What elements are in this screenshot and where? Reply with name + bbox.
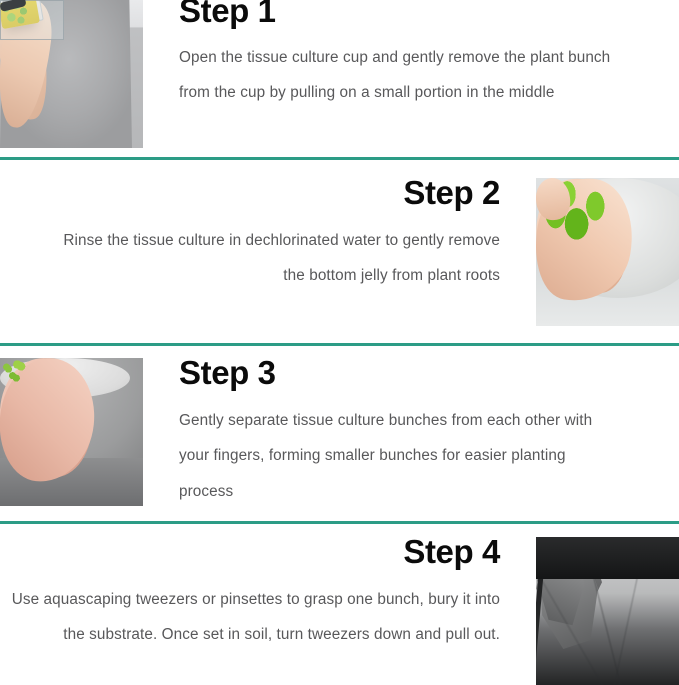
step-4-body: Use aquascaping tweezers or pinsettes to… (0, 582, 500, 653)
step-3-photo (0, 358, 143, 506)
step-2-text-column: Step 2 Rinse the tissue culture in dechl… (0, 178, 536, 294)
divider-2 (0, 343, 679, 346)
step-4-title: Step 4 (0, 535, 500, 569)
step-3-text-column: Step 3 Gently separate tissue culture bu… (143, 358, 679, 509)
divider-1 (0, 157, 679, 160)
step-1-title: Step 1 (179, 0, 621, 28)
step-4-photo (536, 537, 679, 685)
photo-substrate-shape (536, 537, 679, 579)
step-block-3: Step 3 Gently separate tissue culture bu… (0, 358, 679, 503)
step-2-title: Step 2 (40, 176, 500, 210)
photo-green-bunch-right-shape (0, 358, 34, 386)
step-1-text-column: Step 1 Open the tissue culture cup and g… (143, 0, 679, 111)
step-1-photo (0, 0, 143, 148)
step-block-2: Step 2 Rinse the tissue culture in dechl… (0, 178, 679, 323)
step-3-row: Step 3 Gently separate tissue culture bu… (0, 358, 679, 509)
steps-infographic: Step 1 Open the tissue culture cup and g… (0, 0, 679, 683)
step-block-1: Step 1 Open the tissue culture cup and g… (0, 0, 679, 153)
step-1-body: Open the tissue culture cup and gently r… (179, 40, 621, 111)
step-4-text-column: Step 4 Use aquascaping tweezers or pinse… (0, 537, 536, 653)
step-3-body: Gently separate tissue culture bunches f… (179, 403, 621, 510)
step-2-photo (536, 178, 679, 326)
step-4-row: Step 4 Use aquascaping tweezers or pinse… (0, 537, 679, 685)
step-2-body: Rinse the tissue culture in dechlorinate… (40, 223, 500, 294)
step-2-row: Step 2 Rinse the tissue culture in dechl… (0, 178, 679, 326)
step-block-4: Step 4 Use aquascaping tweezers or pinse… (0, 537, 679, 683)
step-3-title: Step 3 (179, 356, 621, 390)
divider-3 (0, 521, 679, 524)
step-1-row: Step 1 Open the tissue culture cup and g… (0, 0, 679, 148)
